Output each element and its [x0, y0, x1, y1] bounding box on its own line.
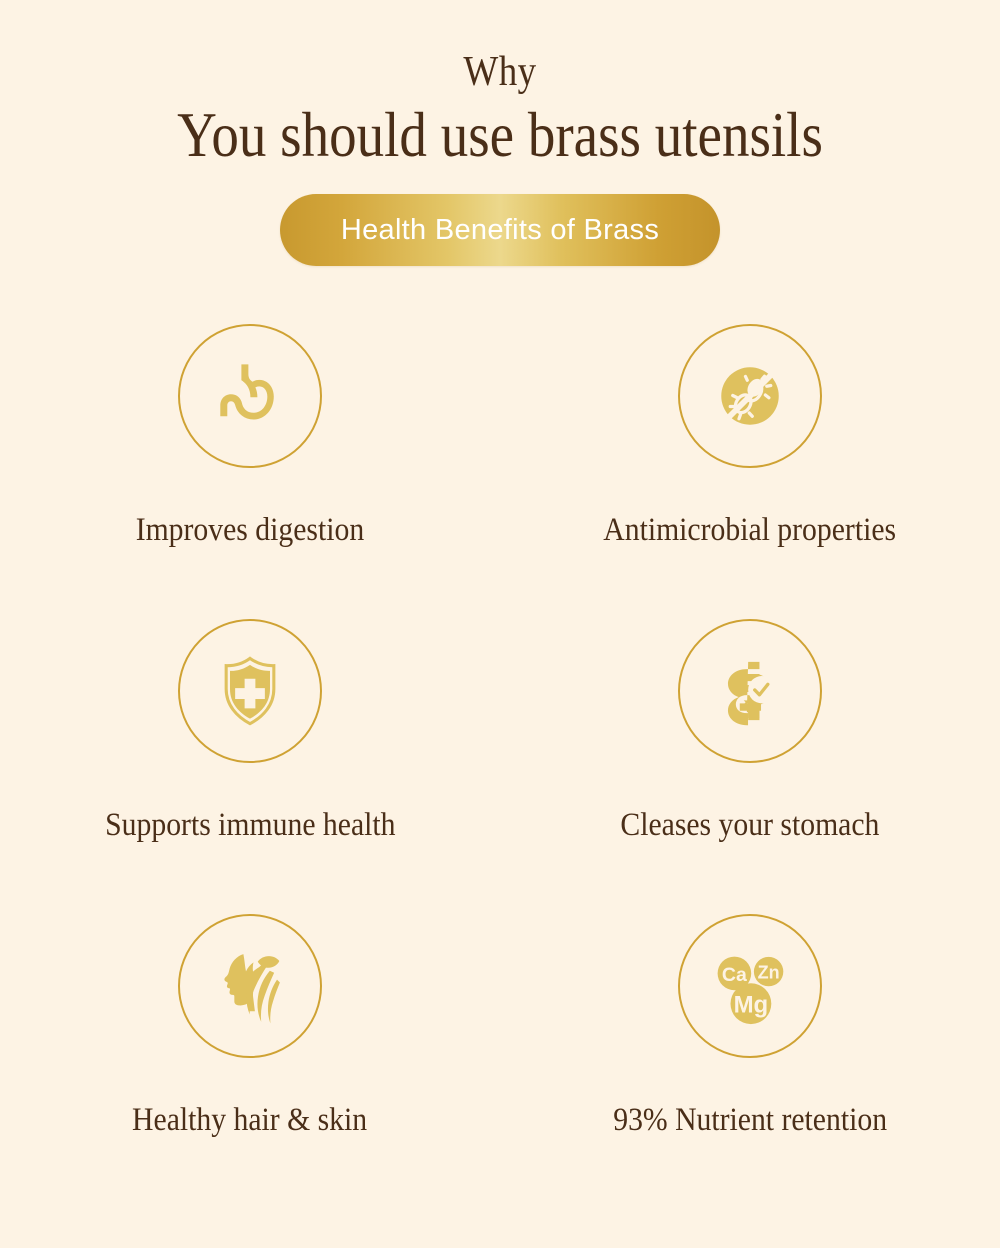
header: Why You should use brass utensils: [0, 0, 1000, 172]
benefit-item-improves-digestion: Improves digestion: [0, 324, 500, 619]
benefits-grid: Improves digestion: [0, 324, 1000, 1209]
benefit-item-supports-immune-health: Supports immune health: [0, 619, 500, 914]
benefit-label: Antimicrobial properties: [604, 511, 897, 549]
stomach-icon: [207, 353, 293, 439]
intestine-check-icon: [708, 649, 792, 733]
badge-container: Health Benefits of Brass: [0, 194, 1000, 266]
page-title: You should use brass utensils: [70, 98, 930, 172]
badge-label: Health Benefits of Brass: [341, 214, 659, 247]
benefit-label: Cleases your stomach: [620, 806, 879, 844]
health-benefits-badge: Health Benefits of Brass: [280, 194, 720, 266]
benefit-item-cleases-your-stomach: Cleases your stomach: [500, 619, 1000, 914]
benefit-label: 93% Nutrient retention: [613, 1101, 887, 1139]
icon-ring: Ca Zn Mg: [678, 914, 822, 1058]
icon-ring: [178, 619, 322, 763]
icon-ring: [178, 324, 322, 468]
calcium-label: Ca: [722, 964, 747, 986]
magnesium-label: Mg: [734, 991, 769, 1018]
shield-cross-icon: [209, 650, 291, 732]
benefit-label: Improves digestion: [136, 511, 365, 549]
benefit-item-nutrient-retention: Ca Zn Mg 93% Nutrient retention: [500, 914, 1000, 1209]
page-eyebrow: Why: [60, 48, 940, 96]
zinc-label: Zn: [758, 963, 780, 983]
benefit-label: Supports immune health: [105, 806, 395, 844]
infographic-page: Why You should use brass utensils Health…: [0, 0, 1000, 1248]
benefit-item-healthy-hair-and-skin: Healthy hair & skin: [0, 914, 500, 1209]
benefit-item-antimicrobial-properties: Antimicrobial properties: [500, 324, 1000, 619]
icon-ring: [678, 619, 822, 763]
woman-hair-leaf-icon: [204, 940, 296, 1032]
icon-ring: [678, 324, 822, 468]
minerals-bubbles-icon: Ca Zn Mg: [702, 938, 798, 1034]
icon-ring: [178, 914, 322, 1058]
no-bacteria-icon: [710, 356, 790, 436]
benefit-label: Healthy hair & skin: [132, 1101, 367, 1139]
